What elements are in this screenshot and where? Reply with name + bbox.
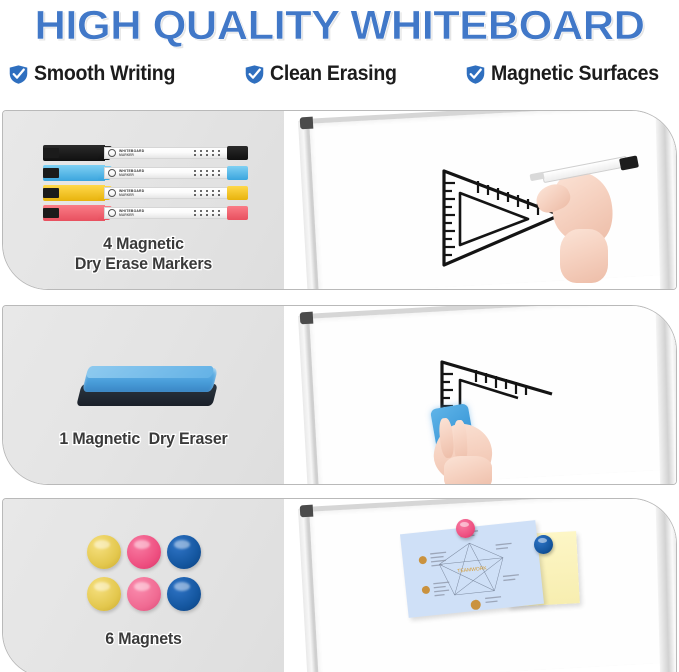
marker-tail: [227, 186, 248, 200]
marker-dot-pattern: [194, 170, 224, 178]
feature-label: Magnetic Surfaces: [491, 62, 659, 86]
product-showcase-markers: WHITEBOARD MARKER WHITEBOARD: [3, 111, 284, 289]
whiteboard-scene: [284, 111, 677, 289]
marker-cap: [43, 185, 105, 201]
magnet-pink-on-board: [456, 519, 475, 538]
product-showcase-magnets: 6 Magnets: [3, 499, 284, 672]
whiteboard-corner-bracket: [300, 505, 314, 518]
marker-tail: [227, 146, 248, 160]
whiteboard-scene: TEAMWORK: [284, 499, 677, 672]
product-label-eraser: 1 Magnetic Dry Eraser: [11, 429, 275, 449]
marker-tail: [227, 206, 248, 220]
feature-label: Clean Erasing: [270, 62, 397, 86]
whiteboard-corner-bracket: [300, 117, 314, 130]
product-infographic: HIGH QUALITY WHITEBOARD Smooth Writing C…: [0, 0, 679, 672]
marker-tail: [227, 166, 248, 180]
whiteboard-frame-right: [655, 306, 677, 484]
feature-item-clean-erasing: Clean Erasing: [244, 62, 406, 86]
product-label-magnets: 6 Magnets: [11, 629, 275, 649]
marker-cap: [43, 145, 105, 161]
hand-wrist: [560, 229, 608, 283]
magnets-group: [87, 535, 207, 615]
marker-red: WHITEBOARD MARKER: [43, 205, 248, 221]
marker-cap: [43, 205, 105, 221]
whiteboard-scene: [284, 306, 677, 484]
marker-dot-pattern: [194, 210, 224, 218]
marker-cap: [43, 165, 105, 181]
page-title: HIGH QUALITY WHITEBOARD: [0, 2, 679, 49]
marker-barrel-text: WHITEBOARD MARKER: [119, 149, 144, 158]
magnet-pink: [127, 535, 161, 569]
scene-erasing: [284, 306, 677, 484]
feature-item-magnetic-surfaces: Magnetic Surfaces: [465, 62, 671, 86]
marker-barrel-text: WHITEBOARD MARKER: [119, 189, 144, 198]
magnet-yellow: [87, 577, 121, 611]
markers-group: WHITEBOARD MARKER WHITEBOARD: [43, 145, 248, 223]
eraser-top-face: [86, 366, 215, 378]
marker-black: WHITEBOARD MARKER: [43, 145, 248, 161]
marker-yellow: WHITEBOARD MARKER: [43, 185, 248, 201]
product-label-markers: 4 Magnetic Dry Erase Markers: [11, 234, 275, 274]
feature-label: Smooth Writing: [34, 62, 175, 86]
marker-barrel-text: WHITEBOARD MARKER: [119, 209, 144, 218]
marker-logo-icon: [108, 149, 116, 157]
whiteboard-frame-right: [655, 499, 677, 672]
marker-barrel: WHITEBOARD MARKER: [104, 187, 228, 199]
feature-panel-magnets: 6 Magnets: [2, 498, 677, 672]
check-badge-icon: [465, 64, 486, 85]
header: HIGH QUALITY WHITEBOARD Smooth Writing C…: [0, 0, 679, 98]
feature-item-smooth-writing: Smooth Writing: [8, 62, 186, 86]
marker-logo-icon: [108, 189, 116, 197]
check-badge-icon: [8, 64, 29, 85]
magnet-blue: [167, 577, 201, 611]
marker-logo-icon: [108, 169, 116, 177]
whiteboard-frame-right: [655, 111, 677, 289]
magnet-blue-on-board: [534, 535, 553, 554]
magnet-pink: [127, 577, 161, 611]
marker-blue: WHITEBOARD MARKER: [43, 165, 248, 181]
scene-magnetic-surface: TEAMWORK: [284, 499, 677, 672]
magnetic-dry-eraser: [77, 364, 217, 410]
scene-writing: [284, 111, 677, 289]
marker-barrel: WHITEBOARD MARKER: [104, 167, 228, 179]
marker-barrel-text: WHITEBOARD MARKER: [119, 169, 144, 178]
marker-barrel: WHITEBOARD MARKER: [104, 207, 228, 219]
check-badge-icon: [244, 64, 265, 85]
magnet-yellow: [87, 535, 121, 569]
marker-dot-pattern: [194, 190, 224, 198]
product-showcase-eraser: 1 Magnetic Dry Eraser: [3, 306, 284, 484]
feature-list: Smooth Writing Clean Erasing Magnetic Su…: [8, 57, 671, 91]
magnet-blue: [167, 535, 201, 569]
marker-logo-icon: [108, 209, 116, 217]
whiteboard-corner-bracket: [300, 312, 314, 325]
marker-barrel: WHITEBOARD MARKER: [104, 147, 228, 159]
hand-wrist: [444, 456, 492, 484]
marker-dot-pattern: [194, 150, 224, 158]
feature-panel-eraser: 1 Magnetic Dry Eraser: [2, 305, 677, 485]
feature-panel-markers: WHITEBOARD MARKER WHITEBOARD: [2, 110, 677, 290]
